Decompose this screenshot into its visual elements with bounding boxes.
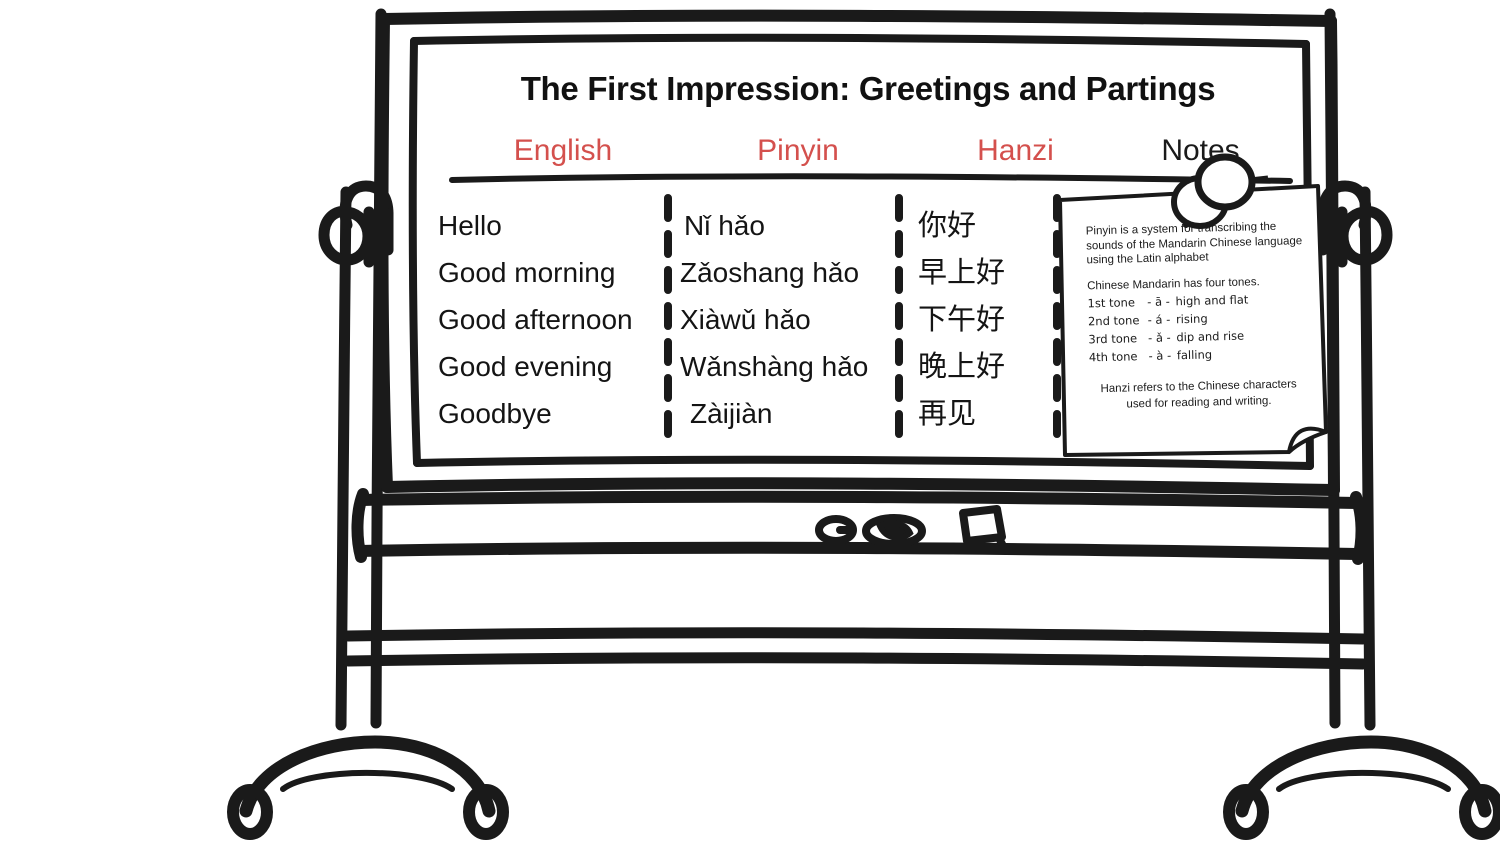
eraser-icon [963,509,1003,546]
cell-english: Goodbye [438,390,668,437]
tone-ordinal: 1st tone [1087,294,1141,313]
cell-pinyin: Zǎoshang hǎo [680,249,910,296]
tone-description: falling [1177,347,1213,362]
whiteboard-scene: The First Impression: Greetings and Part… [0,0,1500,843]
column-header-notes: Notes [1093,134,1308,168]
tone-description: dip and rise [1176,329,1244,345]
easel-hook-left-icon [324,186,388,262]
stand-lower-rails [348,633,1363,664]
tone-mark: - ǎ - [1142,329,1176,348]
cell-english: Good morning [438,249,668,296]
note-paragraph-pinyin: Pinyin is a system for transcribing the … [1086,219,1305,268]
column-header-hanzi: Hanzi [918,134,1113,168]
cell-english: Good evening [438,343,668,390]
cell-pinyin: Wǎnshàng hǎo [680,343,910,390]
marker-tray [357,494,1361,559]
caster-wheel-back-left [1229,790,1263,834]
caster-wheel-front-right [469,790,503,834]
caster-wheel-back-right [1465,790,1499,834]
column-header-english: English [458,134,668,168]
cell-english: Hello [438,202,668,249]
sticky-note-text: Pinyin is a system for transcribing the … [1086,219,1309,414]
tone-mark: - à - [1143,347,1177,366]
base-left [246,742,489,811]
tone-ordinal: 2nd tone [1088,312,1142,331]
marker-icon [866,518,922,544]
cell-pinyin: Xiàwǔ hǎo [680,296,910,343]
tone-ordinal: 4th tone [1089,348,1143,367]
marker-cap-icon [819,519,853,541]
sticky-note: Pinyin is a system for transcribing the … [1055,179,1320,462]
caster-wheel-front-left [233,790,267,834]
base-right [1242,742,1485,811]
note-paragraph-hanzi: Hanzi refers to the Chinese characters u… [1089,376,1308,414]
tone-description: rising [1176,312,1208,327]
tone-ordinal: 3rd tone [1088,330,1142,349]
cell-english: Good afternoon [438,296,668,343]
tray-items [819,509,1003,546]
cell-pinyin: Zàijiàn [690,390,920,437]
page-title: The First Impression: Greetings and Part… [428,70,1308,108]
cell-pinyin: Nǐ hǎo [684,202,914,249]
tone-mark: - á - [1142,311,1176,330]
tone-description: high and flat [1175,293,1248,309]
easel-hook-right-icon [1323,186,1387,262]
column-header-pinyin: Pinyin [683,134,913,168]
tone-mark: - ā - [1141,294,1175,313]
